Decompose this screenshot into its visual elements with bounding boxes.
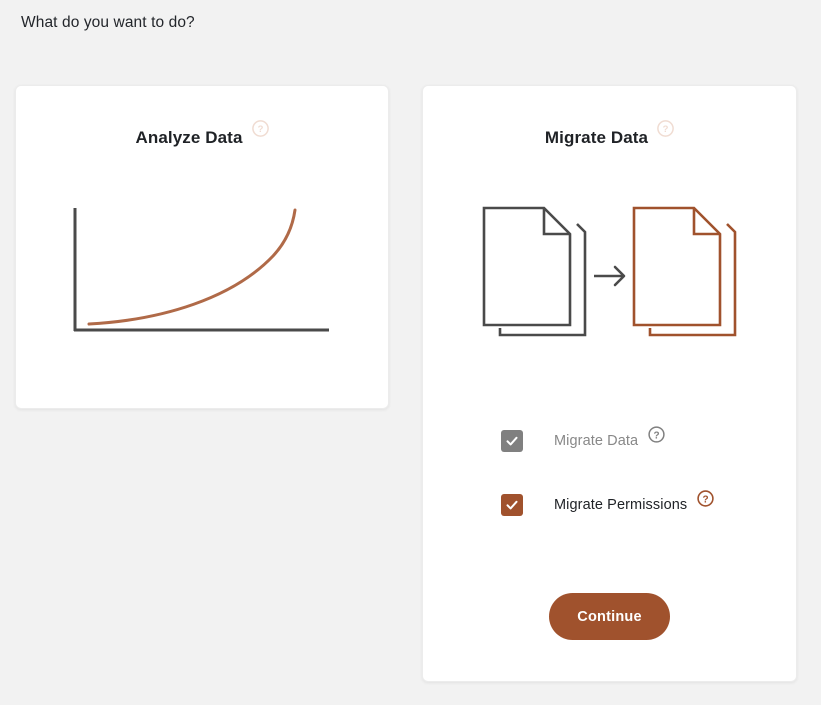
help-circle-icon[interactable]: ?: [697, 490, 714, 507]
option-row-migrate-data[interactable]: Migrate Data ?: [423, 426, 796, 456]
analyze-graphic: [16, 206, 388, 341]
option-label-migrate-data: Migrate Data: [554, 433, 638, 449]
migrate-card-title: Migrate Data: [545, 126, 648, 150]
help-circle-icon[interactable]: ?: [648, 426, 665, 443]
migrate-graphic: [423, 206, 796, 346]
analyze-card-title: Analyze Data: [135, 126, 242, 150]
card-migrate-data[interactable]: Migrate Data ?: [422, 85, 797, 682]
svg-text:?: ?: [703, 494, 709, 505]
checkbox-migrate-permissions[interactable]: [501, 494, 523, 516]
exponential-growth-chart-icon: [73, 206, 331, 341]
analyze-title-row: Analyze Data ?: [16, 126, 388, 150]
arrow-right-icon: [594, 267, 624, 285]
migrate-title-row: Migrate Data ?: [423, 126, 796, 150]
svg-text:?: ?: [663, 124, 669, 135]
page-title: What do you want to do?: [21, 14, 195, 32]
svg-text:?: ?: [654, 430, 660, 441]
help-circle-icon[interactable]: ?: [657, 120, 674, 137]
document-migration-icon: [482, 206, 738, 346]
help-circle-icon[interactable]: ?: [252, 120, 269, 137]
checkbox-migrate-data[interactable]: [501, 430, 523, 452]
destination-document-icon: [634, 208, 735, 335]
card-analyze-data[interactable]: Analyze Data ?: [15, 85, 389, 409]
option-label-migrate-permissions: Migrate Permissions: [554, 497, 687, 513]
check-icon: [505, 434, 519, 448]
svg-text:?: ?: [257, 124, 263, 135]
check-icon: [505, 498, 519, 512]
migrate-options-list: Migrate Data ? Migrate Permissions ?: [423, 426, 796, 520]
continue-button-wrapper: Continue: [423, 593, 796, 640]
source-document-icon: [484, 208, 585, 335]
option-row-migrate-permissions[interactable]: Migrate Permissions ?: [423, 490, 796, 520]
continue-button[interactable]: Continue: [549, 593, 669, 640]
